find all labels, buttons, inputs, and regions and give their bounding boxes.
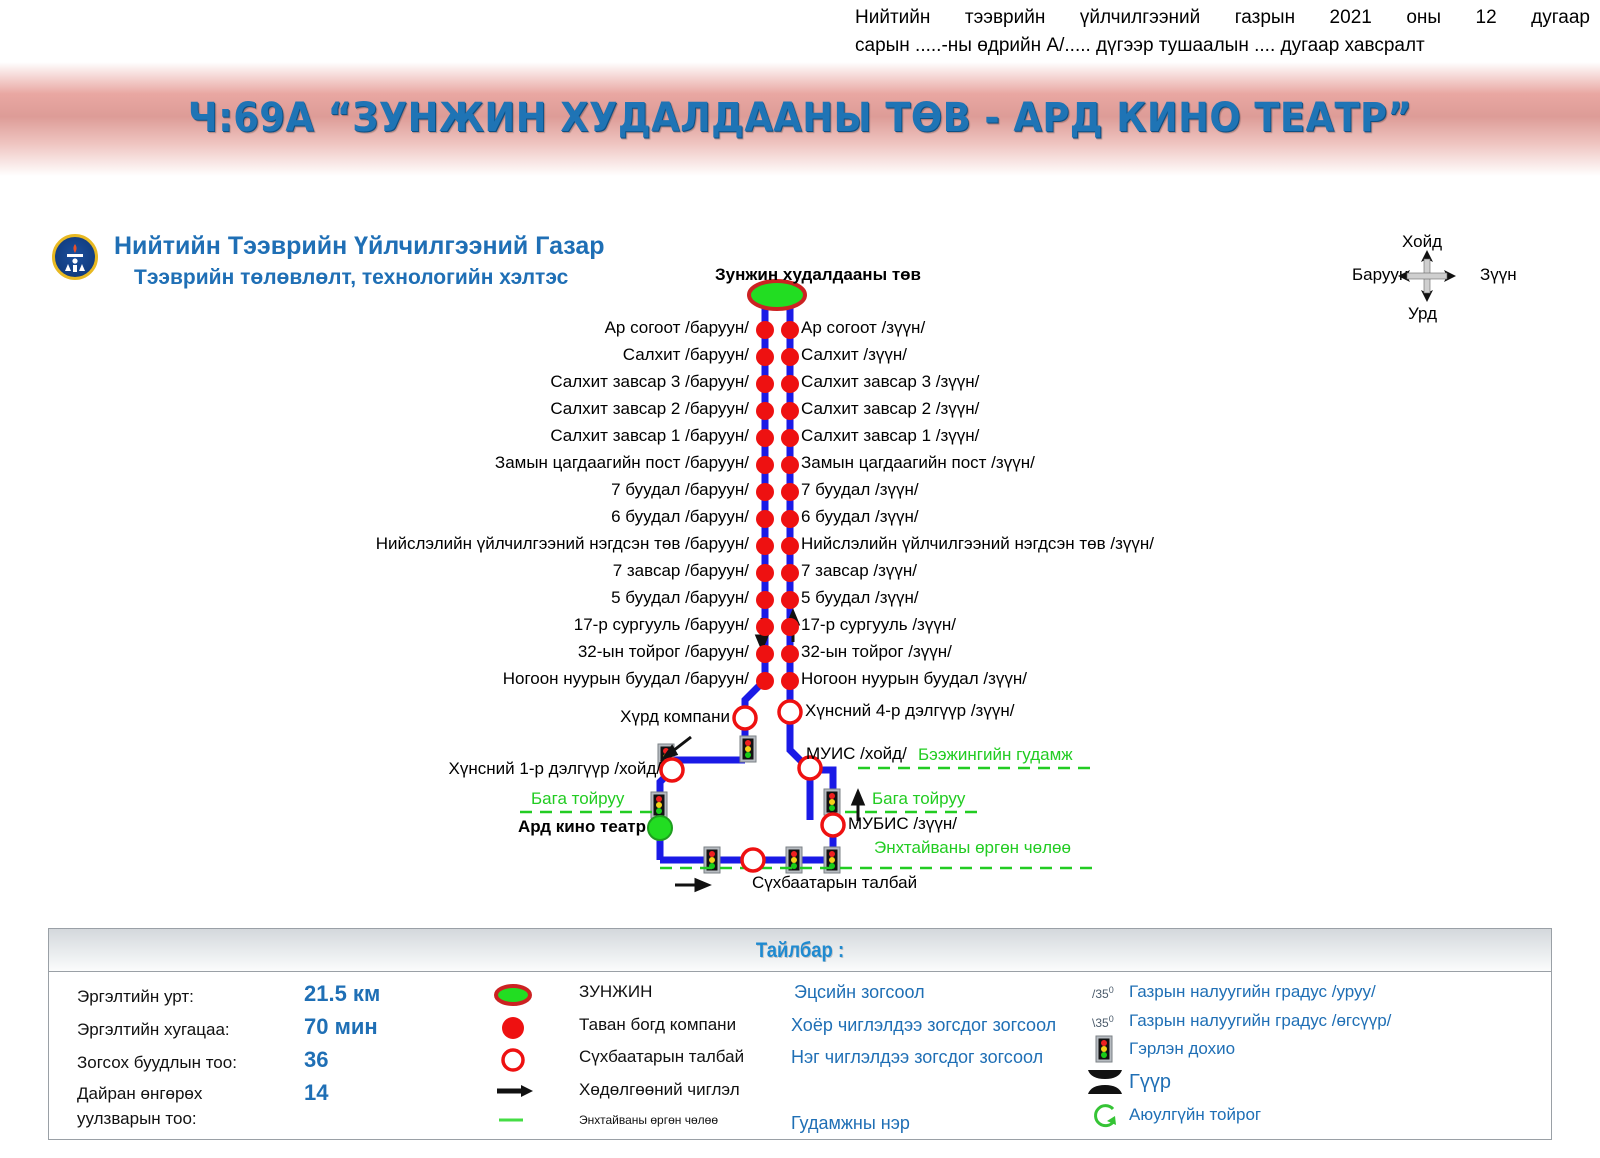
terminus-zunjin-marker [749, 281, 805, 309]
legend-symbol-label-3: Хөдөлгөөний чиглэл [579, 1080, 740, 1100]
legend-description-2: Нэг чиглэлдээ зогсдог зогсоол [791, 1047, 1043, 1068]
stop-label-left-2: Салхит завсар 3 /баруун/ [550, 372, 749, 392]
stop-label-left-4: Салхит завсар 1 /баруун/ [550, 426, 749, 446]
terminus-ard-kino-marker [648, 816, 672, 840]
stat-value-3: 14 [304, 1080, 328, 1106]
traffic-light-icon [1093, 1035, 1115, 1063]
stop-label-hurd-kompani: Хүрд компани [620, 707, 730, 727]
stop-label-hunsnii-4: Хүнсний 4-р дэлгүүр /зүүн/ [805, 701, 1014, 721]
stat-label-1: Эргэлтийн хугацаа: [77, 1020, 230, 1040]
stop-label-right-9: 7 завсар /зүүн/ [801, 561, 917, 581]
stop-mubis [822, 814, 844, 836]
stop-label-suhbaataryn-talbai: Сүхбаатарын талбай [752, 873, 917, 893]
terminus-top-label: Зунжин худалдааны төв [715, 265, 921, 285]
stop-label-right-2: Салхит завсар 3 /зүүн/ [801, 372, 979, 392]
bridge-label: Гүүр [1129, 1071, 1171, 1094]
stop-label-hunsnii-1: Хүнсний 1-р дэлгүүр /хойд/ [449, 759, 661, 779]
street-label-enkhtaivan: Энхтайваны өргөн чөлөө [874, 838, 1071, 858]
stat-label-3b: уулзварын тоо: [77, 1109, 197, 1129]
legend-symbol-label-0: ЗУНЖИН [579, 982, 652, 1002]
stop-label-right-5: Замын цагдаагийн пост /зүүн/ [801, 453, 1035, 473]
stop-suhbaataryn-talbai [742, 849, 764, 871]
bridge-icon [1085, 1066, 1125, 1098]
slope-symbol-down: /350 [1092, 985, 1114, 1001]
stop-label-left-9: 7 завсар /баруун/ [613, 561, 749, 581]
red-hollow-circle-icon [503, 1050, 523, 1070]
stop-label-left-8: Нийслэлийн үйлчилгээний нэгдсэн төв /бар… [376, 534, 749, 554]
legend-description-0: Эцсийн зогсоол [794, 982, 925, 1003]
route-svg [0, 260, 1600, 910]
stat-value-2: 36 [304, 1047, 328, 1073]
stop-label-right-1: Салхит /зүүн/ [801, 345, 907, 365]
stat-label-3: Дайран өнгөрөх [77, 1084, 202, 1104]
stop-label-left-3: Салхит завсар 2 /баруун/ [550, 399, 749, 419]
document-note: Нийтийн тээврийн үйлчилгээний газрын 202… [855, 4, 1590, 60]
green-ellipse-terminus-icon [496, 986, 530, 1004]
stop-label-right-12: 32-ын тойрог /зүүн/ [801, 642, 952, 662]
roundabout-label: Аюулгүйн тойрог [1129, 1105, 1261, 1125]
stop-label-right-13: Ногоон нуурын буудал /зүүн/ [801, 669, 1027, 689]
page-title: Ч:69А “ЗУНЖИН ХУДАЛДААНЫ ТӨВ - АРД КИНО … [64, 95, 1536, 141]
legend-body: Эргэлтийн урт: 21.5 км Эргэлтийн хугацаа… [49, 973, 1551, 1140]
legend-header: Тайлбар : [49, 929, 1551, 972]
document-note-line1: Нийтийн тээврийн үйлчилгээний газрын 202… [855, 4, 1590, 32]
stop-label-right-6: 7 буудал /зүүн/ [801, 480, 919, 500]
stop-label-right-11: 17-р сургууль /зүүн/ [801, 615, 956, 635]
stop-label-left-10: 5 буудал /баруун/ [611, 588, 749, 608]
stop-label-left-5: Замын цагдаагийн пост /баруун/ [495, 453, 749, 473]
red-filled-circle-icon [502, 1017, 524, 1039]
stop-label-right-7: 6 буудал /зүүн/ [801, 507, 919, 527]
stop-label-left-13: Ногоон нуурын буудал /баруун/ [503, 669, 749, 689]
stop-label-right-10: 5 буудал /зүүн/ [801, 588, 919, 608]
stop-label-muis: МУИС /хойд/ [806, 744, 907, 764]
stop-hunsnii-1 [661, 759, 683, 781]
stop-label-left-7: 6 буудал /баруун/ [611, 507, 749, 527]
stop-label-right-0: Ар согоот /зүүн/ [801, 318, 925, 338]
stop-label-right-4: Салхит завсар 1 /зүүн/ [801, 426, 979, 446]
stop-label-left-0: Ар согоот /баруун/ [605, 318, 749, 338]
legend-description-1: Хоёр чиглэлдээ зогсдог зогсоол [791, 1015, 1056, 1036]
stat-value-1: 70 мин [304, 1014, 378, 1040]
legend-panel: Тайлбар : Эргэлтийн урт: 21.5 км Эргэлти… [48, 928, 1552, 1140]
document-note-line2: сарын .....-ны өдрийн А/..... дүгээр туш… [855, 32, 1590, 60]
roundabout-icon [1089, 1101, 1121, 1131]
stop-hurd-kompani [734, 707, 756, 729]
street-label-beijing: Бээжингийн гудамж [918, 745, 1073, 765]
slope-label-up: Газрын налуугийн градус /өгсүүр/ [1129, 1011, 1391, 1031]
stat-label-2: Зогсох буудлын тоо: [77, 1053, 237, 1073]
legend-symbol-label-4: Энхтайваны өргөн чөлөө [579, 1113, 718, 1127]
stat-label-0: Эргэлтийн урт: [77, 987, 194, 1007]
stop-label-left-11: 17-р сургууль /баруун/ [574, 615, 749, 635]
direction-arrow-loop-s [675, 880, 708, 890]
legend-symbol-icons [489, 979, 559, 1129]
black-arrow-icon [497, 1085, 533, 1097]
street-label-baga-left: Бага тойруу [531, 789, 624, 809]
stop-label-left-6: 7 буудал /баруун/ [611, 480, 749, 500]
legend-symbol-label-2: Сүхбаатарын талбай [579, 1047, 744, 1067]
terminus-bottom-label: Ард кино театр [518, 817, 646, 837]
stop-label-left-1: Салхит /баруун/ [623, 345, 749, 365]
street-label-baga-right: Бага тойруу [872, 789, 965, 809]
stat-value-0: 21.5 км [304, 981, 380, 1007]
stop-label-right-8: Нийслэлийн үйлчилгээний нэгдсэн төв /зүү… [801, 534, 1154, 554]
stop-label-left-12: 32-ын тойрог /баруун/ [578, 642, 749, 662]
stop-label-right-3: Салхит завсар 2 /зүүн/ [801, 399, 979, 419]
route-diagram: Зунжин худалдааны төв Ар согоот /баруун/… [0, 260, 1600, 910]
legend-description-3: Гудамжны нэр [791, 1113, 910, 1134]
stop-label-mubis: МУБИС /зүүн/ [848, 814, 957, 834]
traffic-light-label: Гэрлэн дохио [1129, 1039, 1235, 1059]
legend-title: Тайлбар : [139, 939, 1461, 963]
organization-name: Нийтийн Тээврийн Үйлчилгээний Газар [114, 232, 605, 261]
legend-symbol-label-1: Таван богд компани [579, 1015, 736, 1035]
stop-hunsnii-4 [779, 701, 801, 723]
slope-label-down: Газрын налуугийн градус /уруу/ [1129, 982, 1376, 1002]
slope-symbol-up: \350 [1092, 1014, 1114, 1030]
